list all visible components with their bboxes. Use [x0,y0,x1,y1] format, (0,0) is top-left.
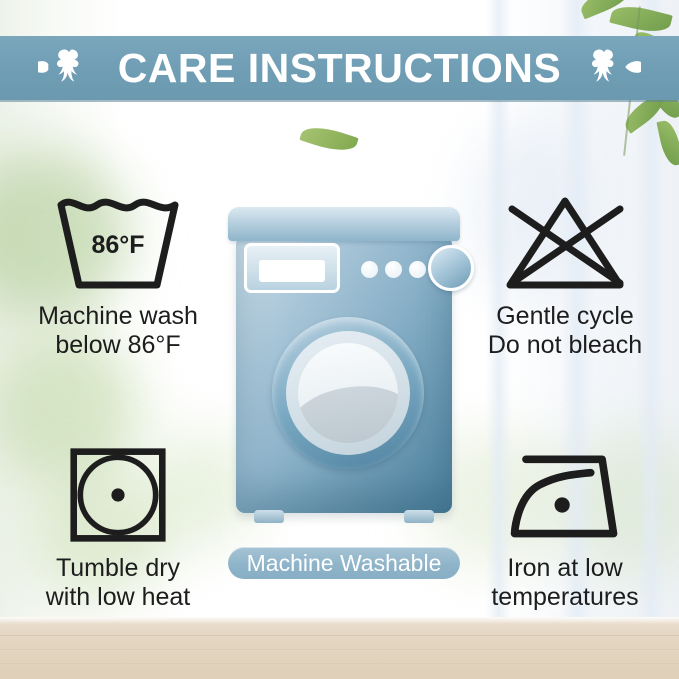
machine-top-lid [228,207,460,241]
care-symbol-gentle-no-bleach: Gentle cycle Do not bleach [458,188,672,359]
machine-door-glass [298,343,398,443]
machine-door [272,317,424,469]
fleur-de-lis-ornament-right-icon [583,46,641,90]
control-indicator-dot [385,261,402,278]
care-symbol-iron: Iron at low temperatures [458,440,672,611]
detergent-drawer-panel [244,243,340,293]
machine-foot [254,510,284,523]
wood-grain [0,635,679,636]
detergent-drawer-icon [259,260,325,282]
fleur-de-lis-ornament-left-icon [38,46,96,90]
program-dial-knob [428,245,474,291]
iron-icon [458,440,672,550]
wooden-table-surface [0,617,679,679]
control-indicator-dot [409,261,426,278]
wash-temperature-value: 86°F [91,231,144,259]
wood-grain [0,663,679,664]
status-badge: Machine Washable [228,547,460,579]
care-instructions-infographic: CARE INSTRUCTIONS 86°F Machine wash belo… [0,0,679,679]
care-symbol-tumble-dry: Tumble dry with low heat [8,440,228,611]
machine-foot [404,510,434,523]
triangle-crossed-out-icon [458,188,672,298]
care-symbol-caption: Iron at low temperatures [458,554,672,611]
care-symbol-machine-wash: 86°F Machine wash below 86°F [8,188,228,359]
page-title: CARE INSTRUCTIONS [118,48,562,89]
wood-grain [0,649,679,650]
care-symbol-caption: Tumble dry with low heat [8,554,228,611]
control-indicator-dot [361,261,378,278]
wash-tub-icon: 86°F [8,188,228,298]
care-symbol-caption: Machine wash below 86°F [8,302,228,359]
status-badge-label: Machine Washable [247,552,442,575]
plant-leaf [656,119,679,168]
tumble-dry-square-icon [8,440,228,550]
door-reflection [298,379,398,443]
care-symbol-caption: Gentle cycle Do not bleach [458,302,672,359]
banner: CARE INSTRUCTIONS [0,36,679,100]
machine-door-ring [286,331,410,455]
washing-machine-illustration [228,207,460,527]
